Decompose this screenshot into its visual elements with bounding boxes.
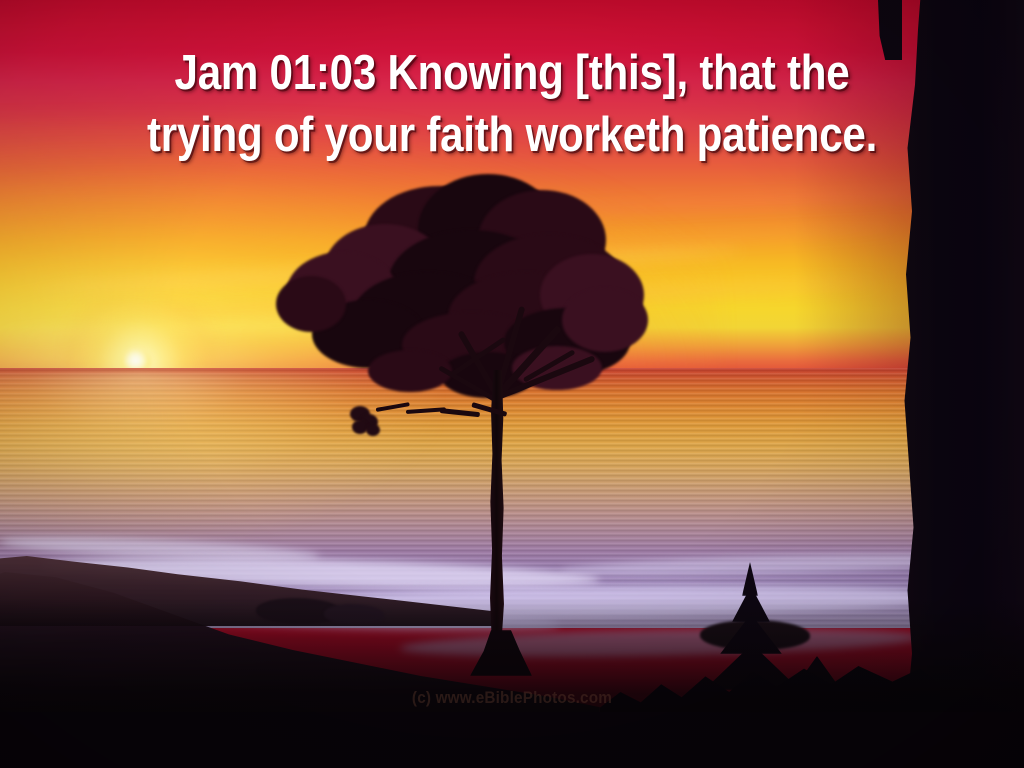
- branch-foliage-clump: [348, 404, 386, 438]
- bottom-dark-band: [0, 712, 1024, 768]
- lone-tree-canopy: [268, 168, 648, 428]
- scripture-photo: (c) www.eBiblePhotos.com Jam 01:03 Knowi…: [0, 0, 1024, 768]
